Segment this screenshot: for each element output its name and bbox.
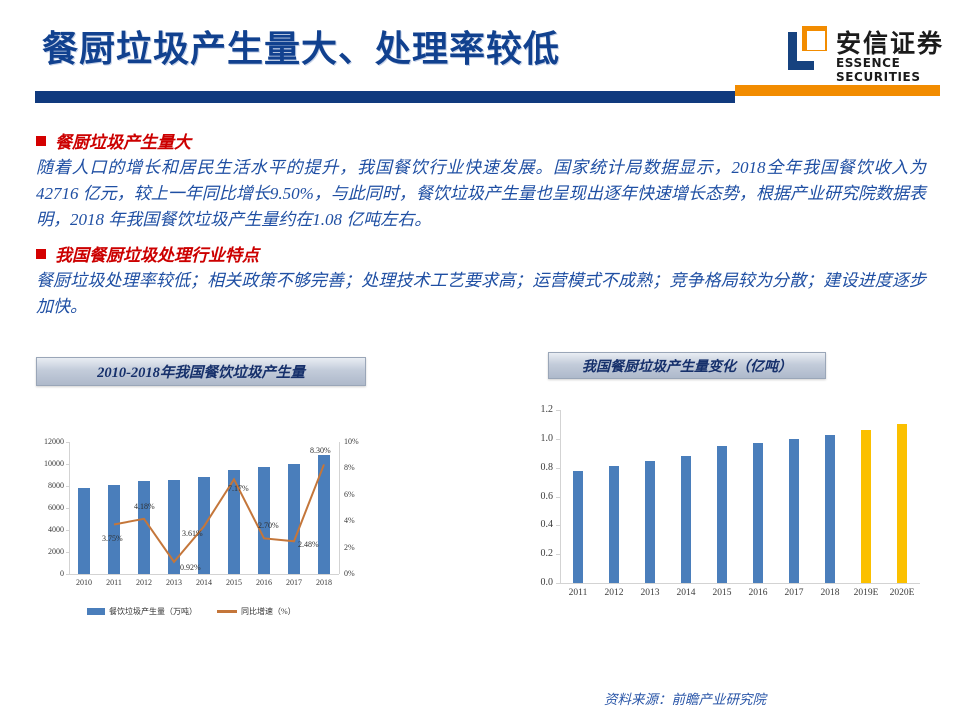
chart-left: 3.75%4.18%0.92%3.61%7.17%2.70%2.48%8.30%… <box>33 430 373 620</box>
chart-right-bar <box>681 456 692 583</box>
chart-right-ytick: 0.2 <box>524 548 553 559</box>
chart-left-xtick: 2013 <box>159 578 189 587</box>
logo-mark-icon <box>788 26 828 70</box>
header-rule-orange <box>735 85 940 96</box>
chart-left-xtick: 2018 <box>309 578 339 587</box>
chart-left-ytick: 8000 <box>33 481 64 490</box>
chart-right-bar <box>825 435 836 583</box>
chart-right-xtick: 2020E <box>884 588 920 598</box>
chart-right-xtick: 2011 <box>560 588 596 598</box>
chart-right-ytick-mark <box>556 497 560 498</box>
chart-right-plot <box>560 410 920 583</box>
chart-right-ytick: 0.8 <box>524 462 553 473</box>
chart-right-xtick: 2013 <box>632 588 668 598</box>
chart-left-legend-label-bar: 餐饮垃圾产生量（万吨） <box>109 606 197 617</box>
chart-left-ytick: 12000 <box>33 437 64 446</box>
chart-left-plot: 3.75%4.18%0.92%3.61%7.17%2.70%2.48%8.30% <box>69 442 339 574</box>
chart-left-x-axis <box>69 574 339 575</box>
section-1-paragraph: 随着人口的增长和居民生活水平的提升，我国餐饮行业快速发展。国家统计局数据显示，2… <box>36 155 926 232</box>
chart-left-ytick: 2000 <box>33 547 64 556</box>
chart-right-xtick: 2018 <box>812 588 848 598</box>
body-content: 餐厨垃圾产生量大 随着人口的增长和居民生活水平的提升，我国餐饮行业快速发展。国家… <box>36 128 926 320</box>
chart-right-ytick: 0.0 <box>524 577 553 588</box>
chart-left-y2-axis <box>339 442 340 574</box>
chart-left-legend-label-line: 同比增速（%） <box>241 606 296 617</box>
chart-left-data-label: 7.17% <box>228 484 249 493</box>
header-rule-blue <box>35 91 735 103</box>
chart-left-ytick-mark <box>66 486 69 487</box>
chart-left-ytick: 10000 <box>33 459 64 468</box>
chart-left-y-axis <box>69 442 70 574</box>
chart-right-xtick: 2019E <box>848 588 884 598</box>
chart-right-y-axis <box>560 410 561 583</box>
chart-right-xtick: 2014 <box>668 588 704 598</box>
chart-left-ytick-mark <box>66 508 69 509</box>
source-note-label: 资料来源：前瞻产业研究院 <box>604 692 766 707</box>
chart-right-xtick: 2017 <box>776 588 812 598</box>
chart-right-ytick: 1.2 <box>524 404 553 415</box>
chart-left-legend: 餐饮垃圾产生量（万吨）同比增速（%） <box>87 606 296 617</box>
legend-swatch-bar-icon <box>87 608 105 615</box>
chart-left-data-label: 4.18% <box>134 502 155 511</box>
chart-left-y2tick: 0% <box>344 569 355 578</box>
section-2-heading: 我国餐厨垃圾处理行业特点 <box>36 241 926 266</box>
chart-left-xtick: 2011 <box>99 578 129 587</box>
chart-right-bar <box>645 461 656 583</box>
chart-left-ytick-mark <box>66 574 69 575</box>
chart-right-xtick: 2016 <box>740 588 776 598</box>
chart-left-ytick-mark <box>66 530 69 531</box>
chart-left-xtick: 2014 <box>189 578 219 587</box>
chart-left-y2tick: 10% <box>344 437 359 446</box>
section-2-heading-label: 我国餐厨垃圾处理行业特点 <box>55 241 259 266</box>
chart-left-xtick: 2016 <box>249 578 279 587</box>
chart-left-ytick-mark <box>66 442 69 443</box>
chart-left-xtick: 2012 <box>129 578 159 587</box>
chart-left-title-banner: 2010-2018年我国餐饮垃圾产生量 <box>36 357 366 386</box>
chart-right-bar <box>753 443 764 583</box>
chart-right-ytick-mark <box>556 525 560 526</box>
slide-page: 餐厨垃圾产生量大、处理率较低 安信证券 ESSENCE SECURITIES 餐… <box>0 0 960 720</box>
chart-left-ytick-mark <box>66 464 69 465</box>
chart-right-x-axis <box>560 583 920 584</box>
section-1-heading: 餐厨垃圾产生量大 <box>36 128 926 153</box>
chart-left-ytick: 6000 <box>33 503 64 512</box>
chart-right-ytick: 1.0 <box>524 433 553 444</box>
chart-left-y2tick: 8% <box>344 463 355 472</box>
chart-left-y2tick: 6% <box>344 490 355 499</box>
chart-left-y2tick: 2% <box>344 543 355 552</box>
chart-left-xtick: 2015 <box>219 578 249 587</box>
chart-left-line-series <box>69 442 339 574</box>
logo-name-en: ESSENCE SECURITIES <box>836 56 948 84</box>
chart-right-title-banner: 我国餐厨垃圾产生量变化（亿吨） <box>548 352 826 379</box>
chart-left-data-label: 8.30% <box>310 446 331 455</box>
chart-right-bar <box>897 424 908 583</box>
chart-right-xtick: 2015 <box>704 588 740 598</box>
chart-right-ytick-mark <box>556 439 560 440</box>
chart-right-bar <box>861 430 872 583</box>
chart-right-ytick-mark <box>556 583 560 584</box>
bullet-square-icon <box>36 249 46 259</box>
chart-left-xtick: 2017 <box>279 578 309 587</box>
chart-left-data-label: 2.48% <box>298 540 319 549</box>
chart-right-bar <box>789 439 800 583</box>
logo-name-cn: 安信证券 <box>836 24 944 60</box>
chart-right-xtick: 2012 <box>596 588 632 598</box>
chart-left-data-label: 0.92% <box>180 563 201 572</box>
chart-left-data-label: 3.75% <box>102 534 123 543</box>
chart-right-bar <box>609 466 620 583</box>
chart-right-bar <box>573 471 584 583</box>
legend-swatch-line-icon <box>217 610 237 613</box>
chart-left-ytick: 4000 <box>33 525 64 534</box>
page-title: 餐厨垃圾产生量大、处理率较低 <box>42 20 560 72</box>
source-note: 资料来源：前瞻产业研究院 <box>0 688 960 708</box>
chart-left-y2tick: 4% <box>344 516 355 525</box>
brand-logo: 安信证券 ESSENCE SECURITIES <box>788 24 948 82</box>
chart-left-ytick: 0 <box>33 569 64 578</box>
chart-right: 0.00.20.40.60.81.01.22011201220132014201… <box>524 398 934 613</box>
chart-right-bar <box>717 446 728 583</box>
chart-right-ytick-mark <box>556 554 560 555</box>
bullet-square-icon <box>36 136 46 146</box>
chart-left-xtick: 2010 <box>69 578 99 587</box>
chart-left-ytick-mark <box>66 552 69 553</box>
chart-right-ytick: 0.6 <box>524 491 553 502</box>
section-1-heading-label: 餐厨垃圾产生量大 <box>55 128 191 153</box>
chart-right-ytick: 0.4 <box>524 519 553 530</box>
chart-left-data-label: 3.61% <box>182 529 203 538</box>
chart-left-data-label: 2.70% <box>258 521 279 530</box>
chart-right-ytick-mark <box>556 468 560 469</box>
section-2-paragraph: 餐厨垃圾处理率较低；相关政策不够完善；处理技术工艺要求高；运营模式不成熟；竞争格… <box>36 268 926 320</box>
chart-right-ytick-mark <box>556 410 560 411</box>
